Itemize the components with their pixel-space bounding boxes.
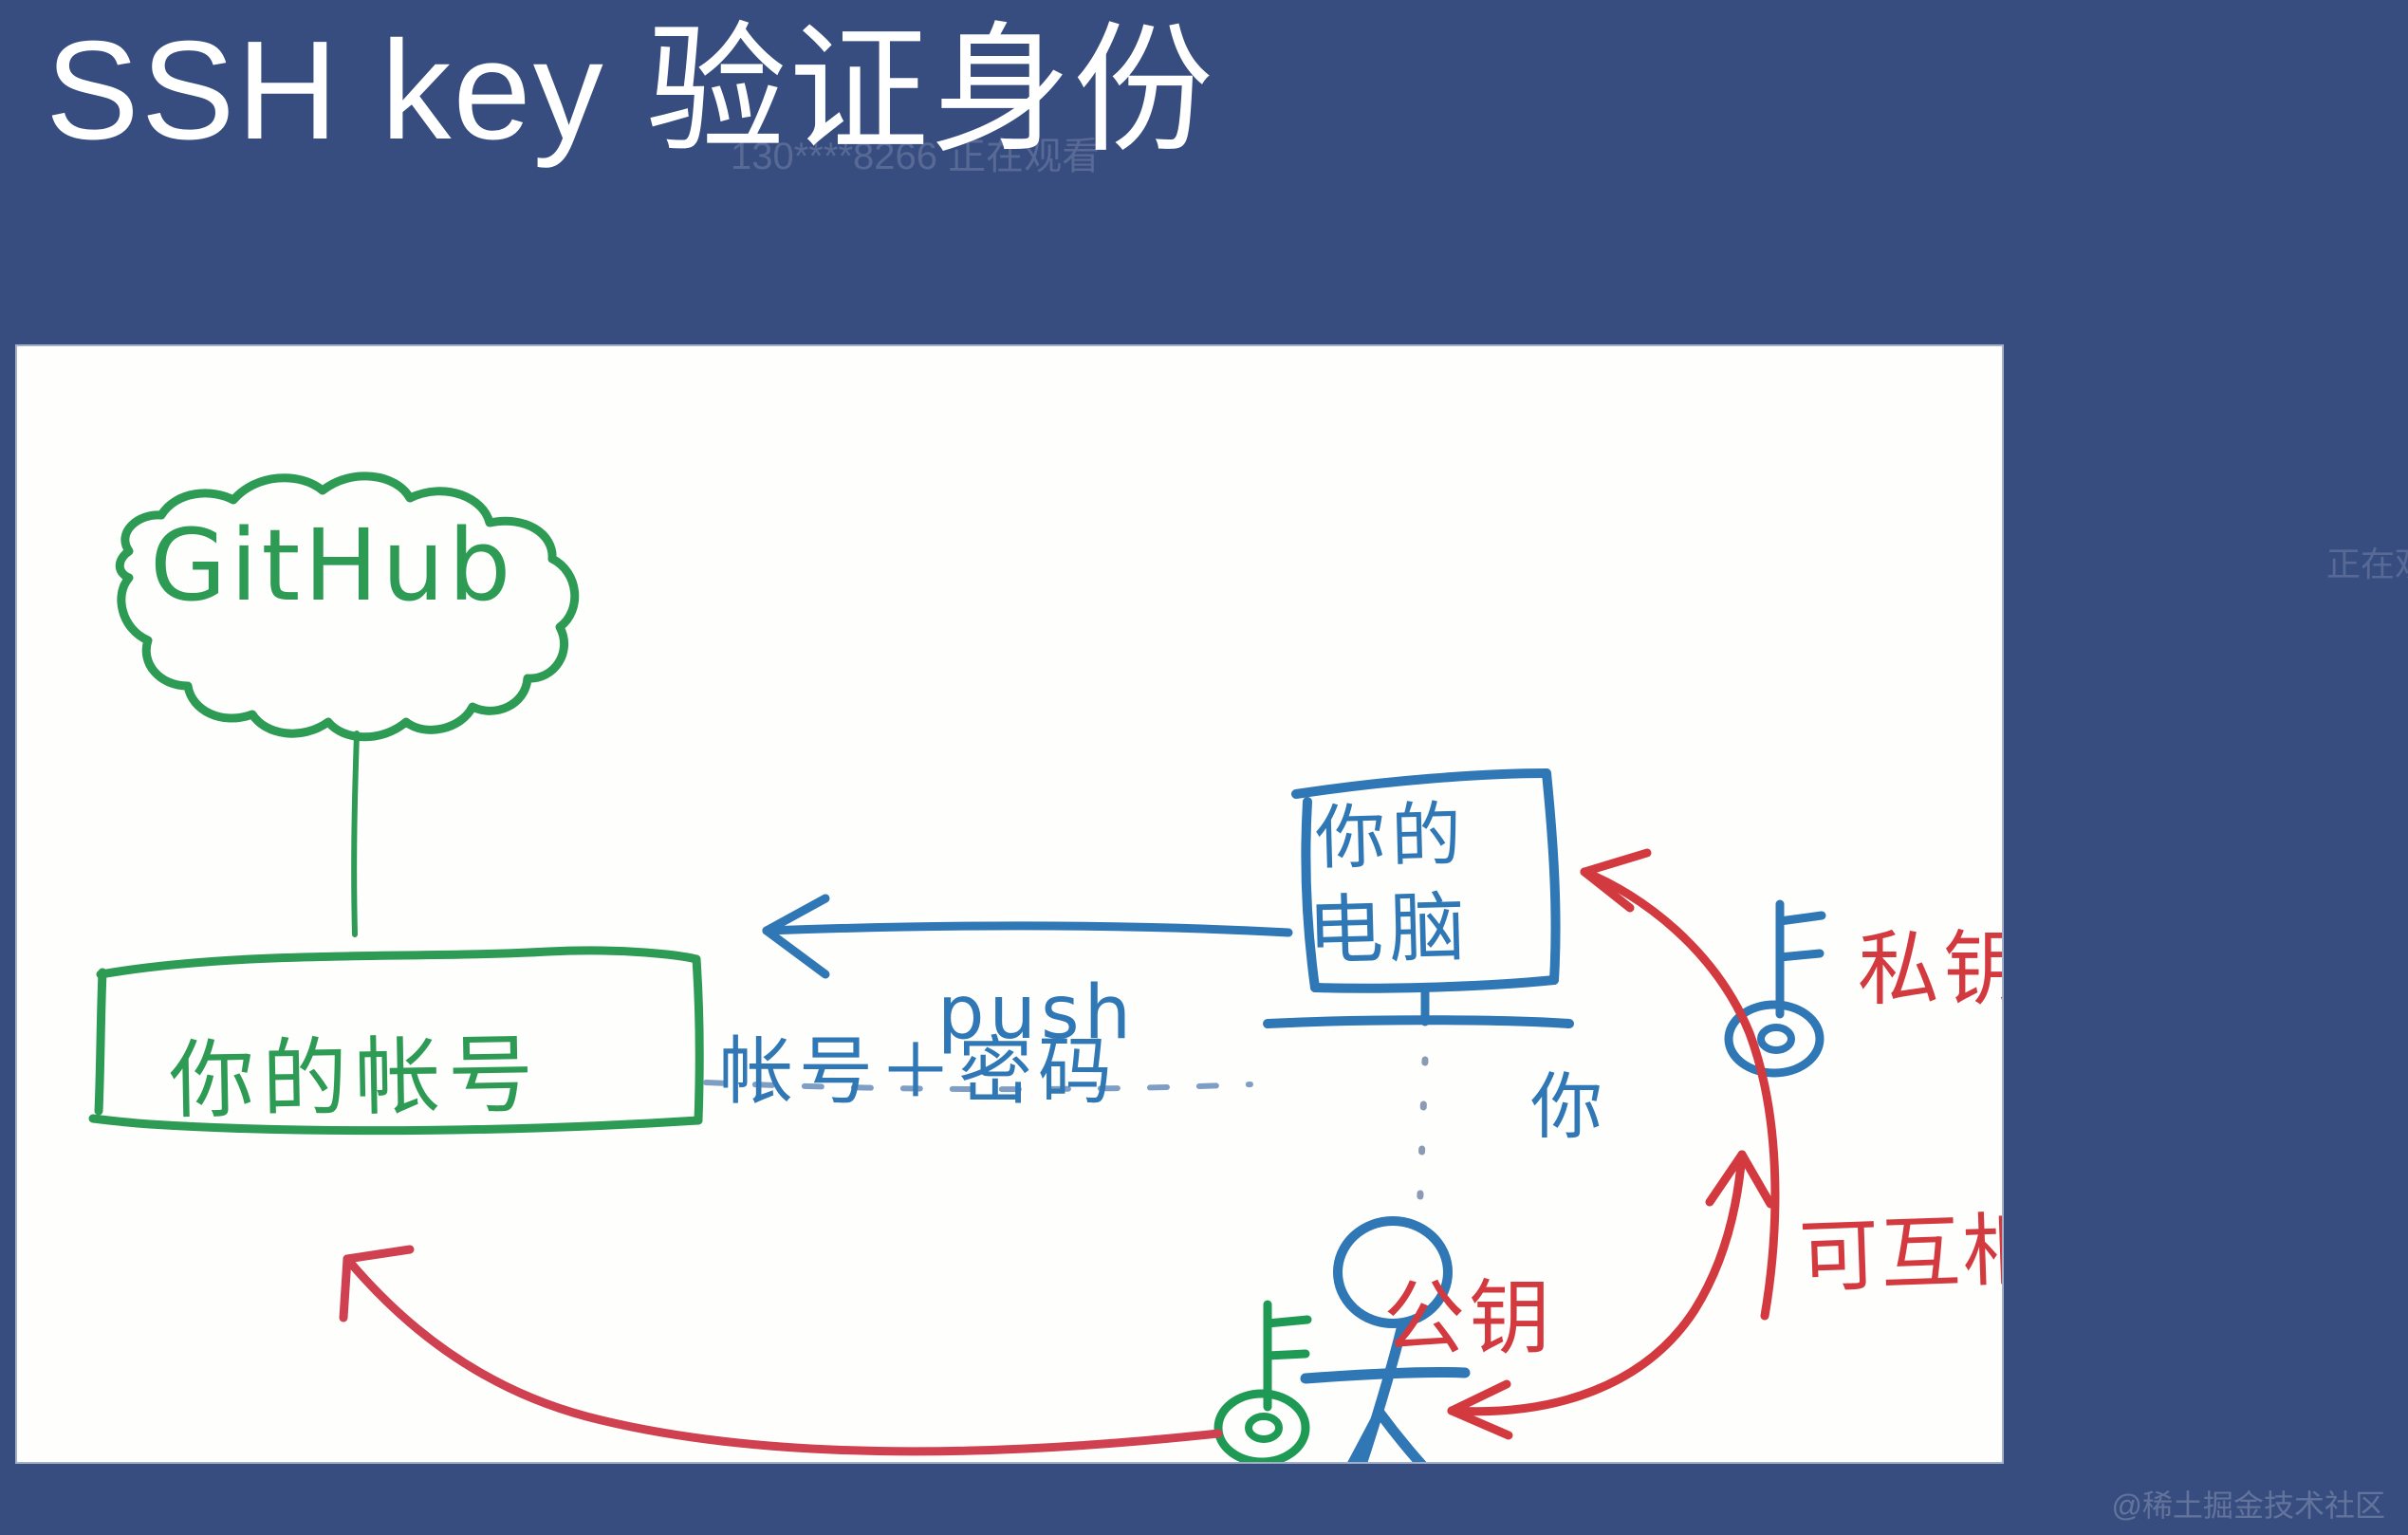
publickey-to-account-arrow — [343, 1249, 1218, 1452]
publickey-to-privatekey-arrow — [1452, 1155, 1770, 1435]
stick-figure-shape — [1306, 1221, 1486, 1462]
slide-background: SSH key 验证身份 130****8266 正在观看 正在观看 @稀土掘金… — [0, 0, 2408, 1535]
private-key-icon — [1729, 904, 1822, 1073]
github-cloud-shape — [120, 476, 575, 737]
push-arrow — [767, 898, 1288, 974]
diagram-drawing — [17, 346, 2002, 1462]
title-bar: SSH key 验证身份 130****8266 正在观看 — [0, 0, 2408, 346]
computer-monitor-shape — [1268, 773, 1569, 1024]
account-box-shape — [93, 951, 699, 1131]
privatekey-to-computer-arrow — [1584, 853, 1775, 1316]
watching-watermark: 正在观看 — [2326, 537, 2408, 586]
page-title: SSH key 验证身份 — [46, 21, 1215, 161]
credential-dashed-line — [706, 1082, 1250, 1089]
community-watermark: @稀土掘金技术社区 — [2112, 1482, 2386, 1526]
public-key-icon — [1218, 1304, 1307, 1462]
computer-person-dotted-link — [1419, 1060, 1425, 1219]
whiteboard-canvas: GitHub 你的 电脑 push 你的帐号 帐号＋密码 你 私钥 公钥 可互相… — [17, 346, 2002, 1462]
github-account-link — [354, 733, 357, 934]
